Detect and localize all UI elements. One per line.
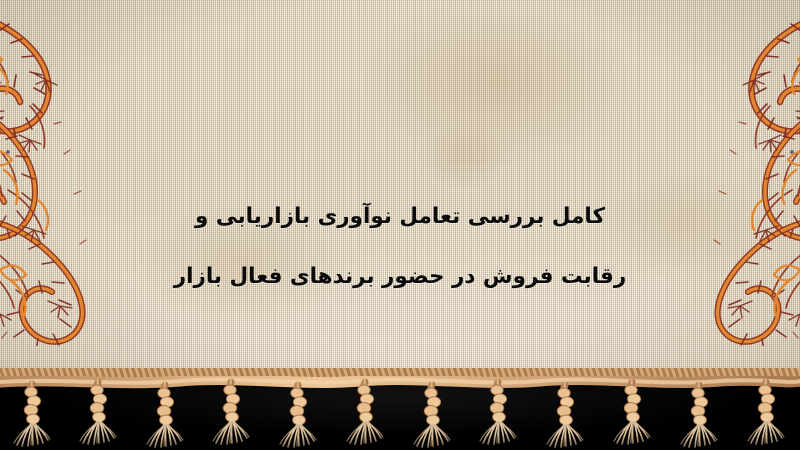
knotted-tassel-fringe (0, 376, 800, 450)
tassel-item (414, 385, 450, 447)
tassel-item (80, 382, 116, 444)
tassel-item (280, 385, 316, 447)
tassel-item (347, 382, 383, 444)
tassel-item (547, 385, 583, 447)
tassel-item (681, 385, 717, 447)
tassel-item (748, 382, 784, 444)
title-line-1: کامل بررسی تعامل نوآوری بازاریابی و (0, 202, 800, 232)
tassel-item (614, 382, 650, 444)
tassel-item (147, 385, 183, 447)
title-line-2: رقابت فروش در حضور برندهای فعال بازار (0, 262, 800, 292)
tassel-item (480, 382, 516, 444)
title-card-canvas: کامل بررسی تعامل نوآوری بازاریابی و رقاب… (0, 0, 800, 450)
page-title: کامل بررسی تعامل نوآوری بازاریابی و رقاب… (0, 172, 800, 322)
tassel-item (14, 384, 50, 446)
tassel-item (213, 382, 249, 444)
